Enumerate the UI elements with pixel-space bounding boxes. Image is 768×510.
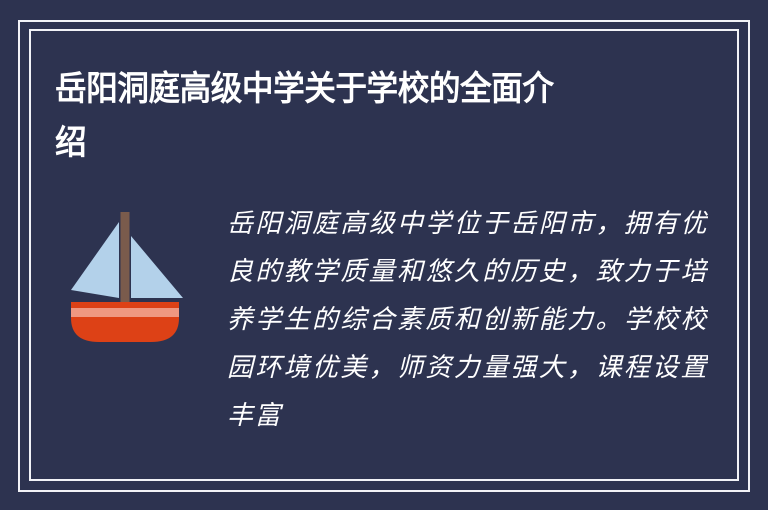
poster-canvas: 岳阳洞庭高级中学关于学校的全面介绍 岳阳洞庭高级中学位于岳阳市，拥有优良的教学质…: [0, 0, 768, 510]
sailboat-illustration: [55, 206, 185, 351]
page-title: 岳阳洞庭高级中学关于学校的全面介绍: [55, 62, 576, 170]
article-body: 岳阳洞庭高级中学位于岳阳市，拥有优良的教学质量和悠久的历史，致力于培养学生的综合…: [185, 200, 708, 440]
sailboat-icon: [65, 206, 185, 346]
content-row: 岳阳洞庭高级中学位于岳阳市，拥有优良的教学质量和悠久的历史，致力于培养学生的综合…: [55, 200, 708, 440]
